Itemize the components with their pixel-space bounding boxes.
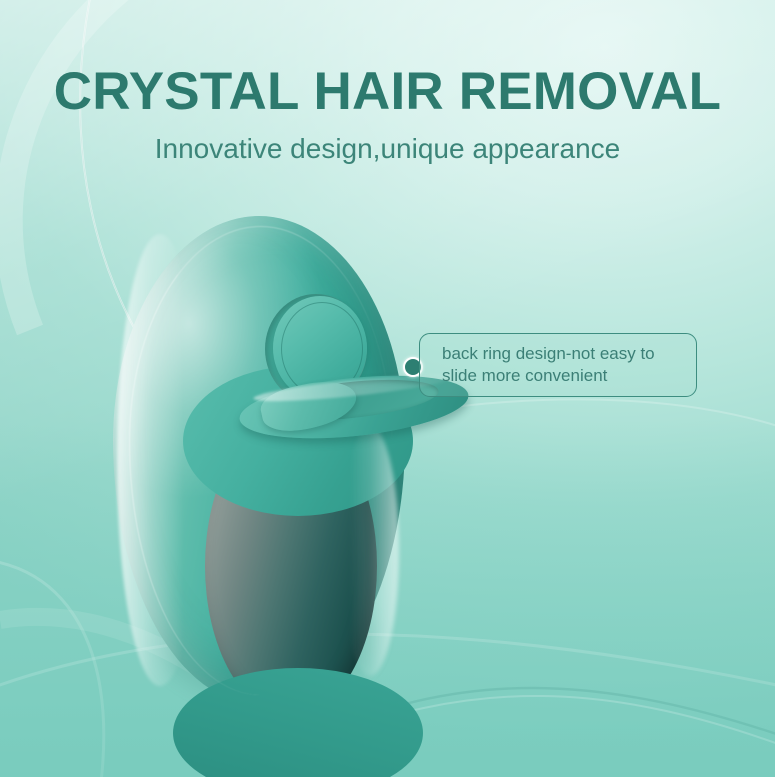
callout-box: back ring design-not easy to slide more …	[419, 333, 697, 397]
product-device	[113, 216, 405, 708]
product-poster: CRYSTAL HAIR REMOVAL Innovative design,u…	[0, 0, 775, 777]
callout-text: back ring design-not easy to slide more …	[442, 343, 696, 388]
page-title: CRYSTAL HAIR REMOVAL	[0, 64, 775, 120]
page-subtitle: Innovative design,unique appearance	[0, 132, 775, 166]
